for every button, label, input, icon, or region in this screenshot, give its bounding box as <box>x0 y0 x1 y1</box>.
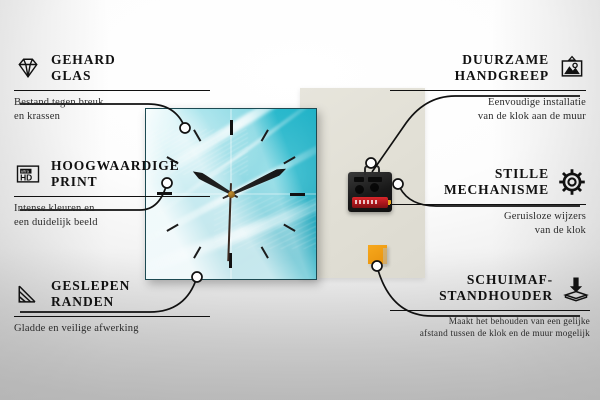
feature-gehard-glas[interactable]: GEHARDGLAS Bestand tegen breuken krassen <box>14 52 210 124</box>
bevelled-edges-icon <box>14 280 42 308</box>
foam-spacer <box>368 245 387 264</box>
feature-subtitle: Intense kleuren eneen duidelijk beeld <box>14 202 210 230</box>
battery <box>352 197 388 208</box>
feature-title: GEHARDGLAS <box>51 52 116 85</box>
feature-subtitle: Eenvoudige installatievan de klok aan de… <box>390 96 586 124</box>
battery-label <box>355 200 379 204</box>
diamond-icon <box>14 54 42 82</box>
mechanism-dial <box>355 185 364 194</box>
clock-center-cap <box>228 191 235 198</box>
divider <box>390 310 590 311</box>
feature-header: GEHARDGLAS <box>14 52 210 85</box>
feature-subtitle: Gladde en veilige afwerking <box>14 322 210 336</box>
feature-duurzame-handgreep[interactable]: DUURZAMEHANDGREEP Eenvoudige installatie… <box>390 52 586 124</box>
svg-text:HD: HD <box>20 173 32 183</box>
mechanism-dial <box>370 183 379 192</box>
divider <box>390 90 586 91</box>
clock-tick <box>231 193 305 195</box>
feature-hoogwaardige-print[interactable]: ultra HD HOOGWAARDIGEPRINT Intense kleur… <box>14 158 210 230</box>
divider <box>14 196 210 197</box>
mechanism-slot <box>368 177 382 182</box>
infographic-canvas: GEHARDGLAS Bestand tegen breuken krassen… <box>0 0 600 400</box>
feature-title: SCHUIMAF-STANDHOUDER <box>439 272 553 305</box>
feature-title: STILLEMECHANISME <box>444 166 549 199</box>
mechanism-slot <box>354 177 364 182</box>
feature-header: GESLEPENRANDEN <box>14 278 210 311</box>
clock-mechanism <box>348 172 392 212</box>
press-down-pad-icon <box>562 274 590 302</box>
feature-subtitle: Bestand tegen breuken krassen <box>14 96 210 124</box>
ultra-hd-icon: ultra HD <box>14 160 42 188</box>
divider <box>390 204 586 205</box>
feature-schuimafstandhouder[interactable]: SCHUIMAF-STANDHOUDER Maakt het behouden … <box>390 272 590 341</box>
feature-subtitle: Maakt het behouden van een gelijkeafstan… <box>390 316 590 341</box>
divider <box>14 90 210 91</box>
feature-header: DUURZAMEHANDGREEP <box>390 52 586 85</box>
feature-stille-mechanisme[interactable]: STILLEMECHANISME Geruisloze wijzersvan d… <box>390 166 586 238</box>
feature-geslepen-randen[interactable]: GESLEPENRANDEN Gladde en veilige afwerki… <box>14 278 210 336</box>
feature-header: ultra HD HOOGWAARDIGEPRINT <box>14 158 210 191</box>
mechanism-hanger <box>364 165 380 175</box>
feature-subtitle: Geruisloze wijzersvan de klok <box>390 210 586 238</box>
picture-frame-icon <box>558 54 586 82</box>
feature-title: GESLEPENRANDEN <box>51 278 130 311</box>
gear-icon <box>558 168 586 196</box>
feature-title: HOOGWAARDIGEPRINT <box>51 158 180 191</box>
divider <box>14 316 210 317</box>
feature-title: DUURZAMEHANDGREEP <box>455 52 549 85</box>
feature-header: STILLEMECHANISME <box>390 166 586 199</box>
feature-header: SCHUIMAF-STANDHOUDER <box>390 272 590 305</box>
